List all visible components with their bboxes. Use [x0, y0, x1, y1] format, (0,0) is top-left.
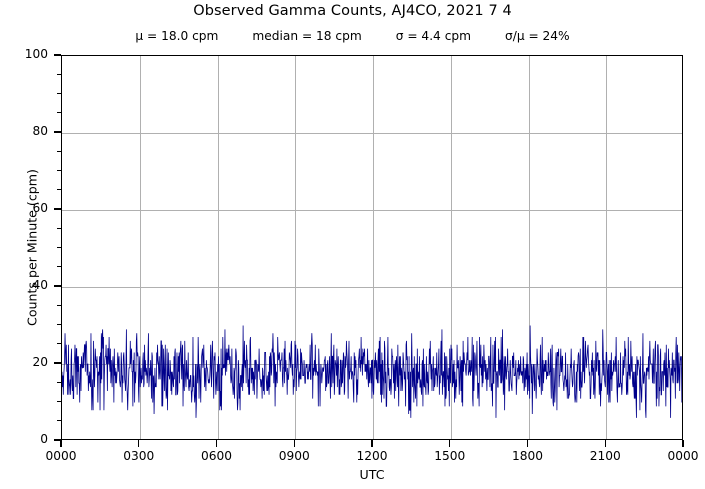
y-tick-minor [57, 189, 61, 190]
y-tick-minor [57, 93, 61, 94]
x-tick-major [605, 440, 606, 447]
x-tick-major [216, 440, 217, 447]
y-axis-label: Counts per Minute (cpm) [25, 128, 40, 368]
x-tick-major [527, 440, 528, 447]
x-tick-label: 1200 [342, 449, 402, 463]
y-tick-minor [57, 151, 61, 152]
x-tick-label: 0000 [31, 449, 91, 463]
x-tick-label: 0600 [187, 449, 247, 463]
chart-subtitle: μ = 18.0 cpmmedian = 18 cpmσ = 4.4 cpmσ/… [0, 29, 705, 43]
x-tick-major [449, 440, 450, 447]
x-tick-major [682, 440, 683, 447]
plot-area [61, 55, 683, 440]
y-tick-minor [57, 170, 61, 171]
y-tick-major [54, 285, 61, 286]
series-gamma-counts [62, 326, 683, 418]
x-tick-major [371, 440, 372, 447]
stat-sigma: σ = 4.4 cpm [396, 29, 471, 43]
data-series-layer [62, 56, 683, 440]
x-tick-label: 0300 [109, 449, 169, 463]
x-tick-major [60, 440, 61, 447]
stat-sigma-over-mu: σ/μ = 24% [505, 29, 570, 43]
y-tick-minor [57, 401, 61, 402]
x-axis-label: UTC [61, 467, 683, 482]
y-tick-minor [57, 228, 61, 229]
y-tick-major [54, 362, 61, 363]
x-tick-label: 0000 [653, 449, 705, 463]
x-tick-major [294, 440, 295, 447]
y-tick-minor [57, 343, 61, 344]
y-tick-label: 100 [25, 47, 48, 61]
y-tick-minor [57, 247, 61, 248]
x-tick-label: 1800 [498, 449, 558, 463]
y-tick-minor [57, 74, 61, 75]
x-tick-label: 2100 [575, 449, 635, 463]
x-tick-label: 0900 [264, 449, 324, 463]
y-tick-minor [57, 112, 61, 113]
y-tick-minor [57, 382, 61, 383]
stat-mean: μ = 18.0 cpm [135, 29, 218, 43]
stat-median: median = 18 cpm [252, 29, 361, 43]
y-tick-minor [57, 266, 61, 267]
y-tick-label: 0 [40, 432, 48, 446]
y-tick-major [54, 208, 61, 209]
y-tick-minor [57, 305, 61, 306]
y-tick-major [54, 54, 61, 55]
x-tick-label: 1500 [420, 449, 480, 463]
y-tick-major [54, 131, 61, 132]
y-tick-minor [57, 324, 61, 325]
chart-title: Observed Gamma Counts, AJ4CO, 2021 7 4 [0, 3, 705, 19]
y-tick-minor [57, 420, 61, 421]
chart-figure: Observed Gamma Counts, AJ4CO, 2021 7 4 μ… [0, 0, 705, 489]
x-tick-major [138, 440, 139, 447]
